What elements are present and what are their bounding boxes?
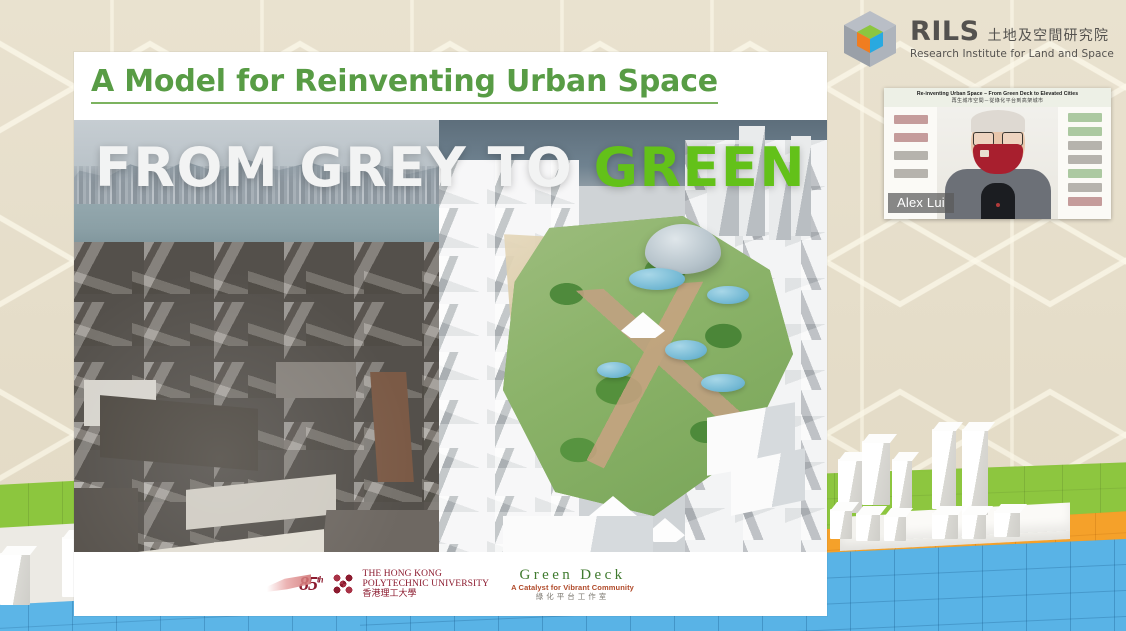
video-slide-title-cn: 再生城市空間－從綠化平台到高架城市 — [952, 97, 1044, 104]
city-building-block — [962, 513, 986, 539]
85th-anniversary-logo: 85th — [267, 573, 323, 596]
sponsor-logo — [1068, 155, 1102, 164]
render-tower — [791, 136, 811, 236]
presentation-stage: A Model for Reinventing Urban Space — [0, 0, 1126, 631]
rils-chinese-name: 土地及空間研究院 — [988, 29, 1110, 44]
speaker-video-tile[interactable]: Re-inventing Urban Space – From Green De… — [884, 88, 1111, 219]
rils-wordmark: RILS 土地及空間研究院 Research Institute for Lan… — [910, 18, 1114, 59]
green-deck-logo: Green Deck A Catalyst for Vibrant Commun… — [511, 567, 634, 602]
polyu-wordmark: THE HONG KONG POLYTECHNIC UNIVERSITY 香港理… — [363, 569, 490, 599]
rils-cube-icon — [839, 8, 901, 70]
photo-far-skyline — [74, 166, 439, 208]
photo-dense-urban-fabric — [74, 242, 439, 552]
sponsor-logo — [1068, 197, 1102, 206]
anniversary-suffix: th — [317, 574, 323, 584]
render-pond — [701, 374, 745, 392]
city-building-block — [0, 553, 30, 605]
city-building-block — [884, 515, 906, 541]
sponsor-logo — [1068, 127, 1102, 136]
sponsor-logo — [894, 151, 928, 160]
render-pond — [665, 340, 707, 360]
polyu-logo: 85th THE HONG KONG POLYTECHNIC UNIVERSIT… — [267, 569, 489, 599]
rils-brand-logo: RILS 土地及空間研究院 Research Institute for Lan… — [839, 8, 1114, 70]
render-pond — [707, 286, 749, 304]
sponsor-logos-right — [1058, 107, 1111, 219]
city-building-block — [994, 511, 1020, 537]
glasses-icon — [973, 132, 1023, 144]
polyu-line-3: 香港理工大學 — [363, 589, 490, 599]
speaker-hair — [971, 110, 1025, 132]
speaker-shirt-button — [996, 203, 1000, 207]
rils-acronym: RILS — [910, 18, 980, 46]
city-building-block — [856, 513, 880, 541]
green-deck-render — [439, 120, 827, 552]
sponsor-logo — [1068, 183, 1102, 192]
render-tower — [707, 144, 739, 236]
city-building-block — [892, 459, 912, 509]
city-building-block — [932, 429, 956, 509]
slide-title: A Model for Reinventing Urban Space — [91, 64, 718, 104]
render-building — [503, 516, 653, 552]
city-building-block — [932, 513, 958, 539]
slide-photo-band: FROM GREY TO GREEN — [74, 120, 827, 552]
sponsor-logo — [894, 133, 928, 142]
city-building-block — [862, 441, 890, 505]
presentation-slide[interactable]: A Model for Reinventing Urban Space — [74, 52, 827, 616]
render-pond — [629, 268, 685, 290]
slide-footer-logos: 85th THE HONG KONG POLYTECHNIC UNIVERSIT… — [74, 552, 827, 616]
city-building-block — [962, 429, 988, 515]
green-deck-title: Green Deck — [511, 567, 634, 584]
cube-svg — [839, 8, 901, 70]
speaker-webcam-feed — [937, 88, 1059, 219]
polyu-emblem-icon — [330, 571, 356, 597]
sponsor-logo — [1068, 169, 1102, 178]
city-building-block — [830, 509, 852, 539]
photo-haze-overlay — [74, 242, 439, 552]
render-pond — [597, 362, 631, 378]
polyu-line-1: THE HONG KONG — [363, 569, 490, 579]
grey-aerial-photo — [74, 120, 439, 552]
speaker-shirt — [981, 183, 1015, 219]
sponsor-logo — [894, 115, 928, 124]
sponsor-logo — [894, 169, 928, 178]
speaker-name-tag: Alex Lui — [888, 193, 954, 213]
sponsor-logo — [1068, 141, 1102, 150]
render-tower — [769, 162, 791, 240]
sponsor-logo — [1068, 113, 1102, 122]
video-slide-header: Re-inventing Urban Space – From Green De… — [884, 88, 1111, 107]
rils-english-name: Research Institute for Land and Space — [910, 49, 1114, 60]
render-tower — [739, 126, 765, 236]
green-deck-chinese: 綠化平台工作室 — [511, 593, 634, 602]
render-dome-pavilion — [645, 224, 721, 274]
